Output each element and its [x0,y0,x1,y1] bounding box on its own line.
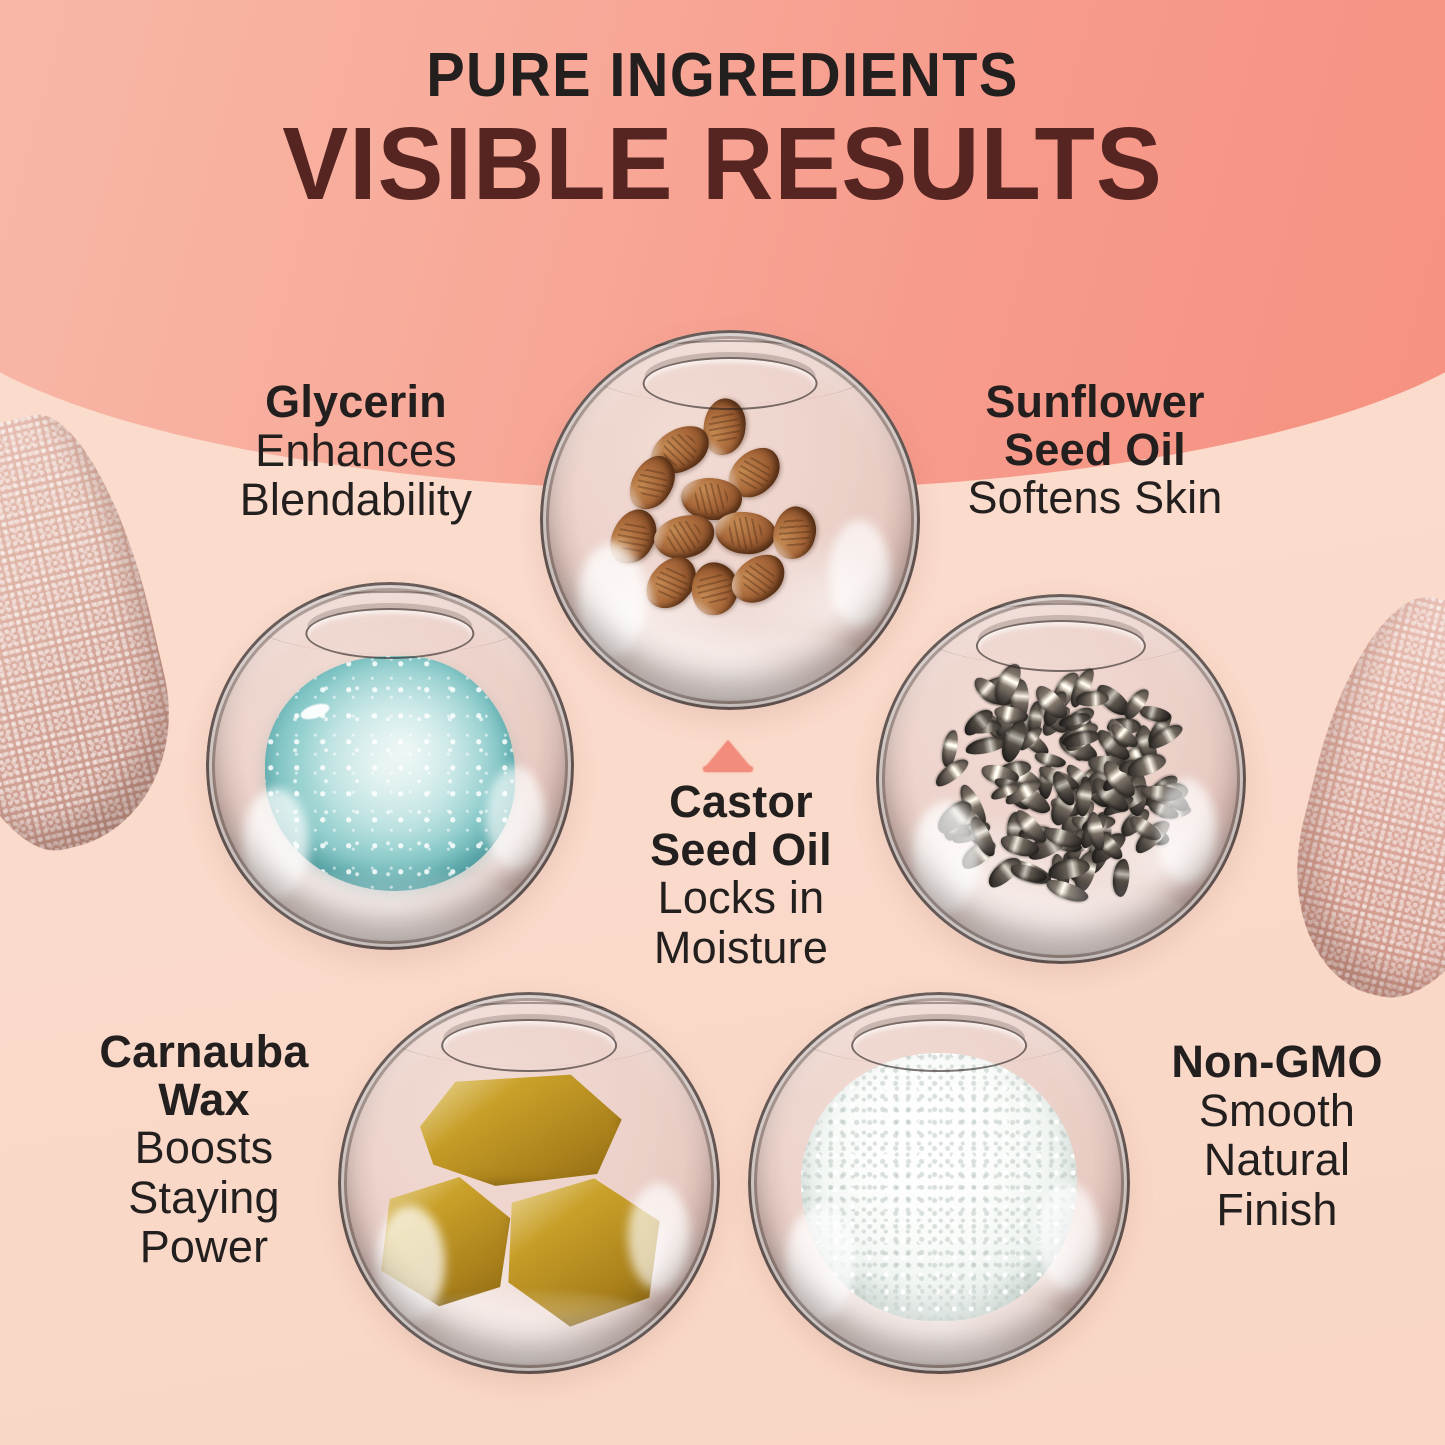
glass-highlight-right [1038,1183,1099,1290]
ingredient-benefit-line: Natural [1118,1135,1436,1185]
ingredient-label-castor-seed-oil: Castor Seed Oil Locks in Moisture [596,778,886,972]
glass-neck-ring [976,620,1146,672]
glass-highlight-right [829,520,890,626]
glass-highlight-right [628,1183,689,1290]
glass-neck-ring [851,1019,1027,1072]
ingredient-label-glycerin: Glycerin Enhances Blendability [186,378,526,525]
headline-line-2: VISIBLE RESULTS [29,111,1416,216]
ingredient-benefit-line: Finish [1118,1185,1436,1235]
headline-block: PURE INGREDIENTS VISIBLE RESULTS [0,44,1445,216]
ingredient-sphere-sunflower-seed-oil [876,594,1246,964]
ingredient-sphere-non-gmo [748,992,1130,1374]
ingredient-benefit-line: Enhances [186,426,526,476]
ingredient-label-sunflower-seed-oil: Sunflower Seed Oil Softens Skin [930,378,1260,523]
ingredient-name-line: Seed Oil [930,426,1260,474]
ingredient-sphere-carnauba-wax [338,992,720,1374]
infographic-canvas: PURE INGREDIENTS VISIBLE RESULTS [0,0,1445,1445]
glass-base-gleam [391,1290,666,1366]
glass-neck-ring [441,1019,617,1072]
castor-pointer-triangle-icon [703,740,753,770]
ingredient-benefit-line: Boosts [44,1123,364,1173]
ingredient-benefit-line: Blendability [186,475,526,525]
ingredient-sphere-glycerin [206,582,574,950]
ingredient-benefit-line: Smooth [1118,1086,1436,1136]
ingredient-name-line: Wax [44,1076,364,1124]
ingredient-sphere-castor-seed-oil [540,330,920,710]
ingredient-benefit-line: Moisture [596,923,886,973]
glass-highlight-right [486,766,545,869]
ingredient-label-non-gmo: Non-GMO Smooth Natural Finish [1118,1038,1436,1234]
ingredient-name-line: Castor [596,778,886,826]
glass-base-gleam [801,1290,1076,1366]
headline-line-1: PURE INGREDIENTS [51,44,1395,107]
glass-neck-ring [305,608,474,660]
ingredient-name-line: Carnauba [44,1028,364,1076]
ingredient-name: Glycerin [186,378,526,426]
ingredient-benefit-line: Power [44,1222,364,1272]
ingredient-label-carnauba-wax: Carnauba Wax Boosts Staying Power [44,1028,364,1272]
ingredient-benefit-line: Staying [44,1173,364,1223]
glass-base-gleam [928,883,1194,957]
ingredient-name: Non-GMO [1118,1038,1436,1086]
glass-base-gleam [593,626,867,702]
ingredient-name-line: Seed Oil [596,826,886,874]
wax-chunk [407,1072,629,1190]
glass-highlight-right [1157,779,1216,883]
ingredient-benefit-line: Softens Skin [930,473,1260,523]
glass-base-gleam [258,869,523,943]
gel-sparkle [299,701,332,723]
glass-neck-ring [643,357,818,410]
ingredient-benefit-line: Locks in [596,873,886,923]
ingredient-name-line: Sunflower [930,378,1260,426]
